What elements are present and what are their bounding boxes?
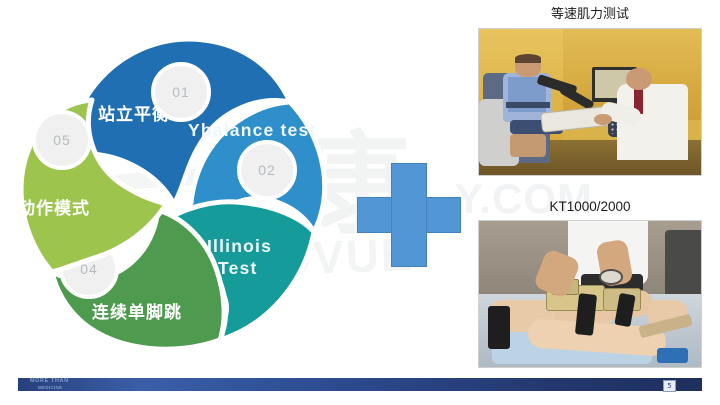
photo-block-isokinetic: 等速肌力测试 [478,6,702,176]
footer-bar: MORE THAN MEDICINE 5 [18,378,702,391]
diagram-segment-02-label: Ybalance test [188,120,316,140]
diagram-segment-05-number: 05 [53,132,71,148]
plus-icon [357,163,461,267]
kt1000-knee-arthrometer-photo [478,220,702,368]
diagram-segment-02-number: 02 [258,162,276,178]
diagram-segment-03-label-line1: Illinois [207,236,272,256]
isokinetic-strength-testing-photo [478,28,702,176]
photo-column: 等速肌力测试 KT1000/2000 [478,6,702,368]
cycle-diagram: 站立平衡 01 Ybalance test 02 Illinois Test 0… [8,18,348,368]
footer-brand-sub: MEDICINE [30,385,69,391]
photo-block-kt1000: KT1000/2000 [478,198,702,368]
footer-brand-main: MORE THAN [30,378,69,384]
photo-caption-isokinetic: 等速肌力测试 [478,6,702,28]
diagram-segment-04-label: 连续单脚跳 [92,302,182,323]
diagram-segment-03-label-line2: Test [218,258,257,278]
plus-icon-center-fill [393,199,426,232]
slide-number-badge: 5 [663,380,676,392]
diagram-segment-05-label: 动作模式 [18,198,90,219]
slide-canvas: 康 COVUE Y.COM 站立平衡 01 Ybalance test 02 [0,0,720,405]
photo-caption-kt1000: KT1000/2000 [478,198,702,220]
footer-brand: MORE THAN MEDICINE [30,379,69,390]
diagram-segment-01-number: 01 [172,84,190,100]
